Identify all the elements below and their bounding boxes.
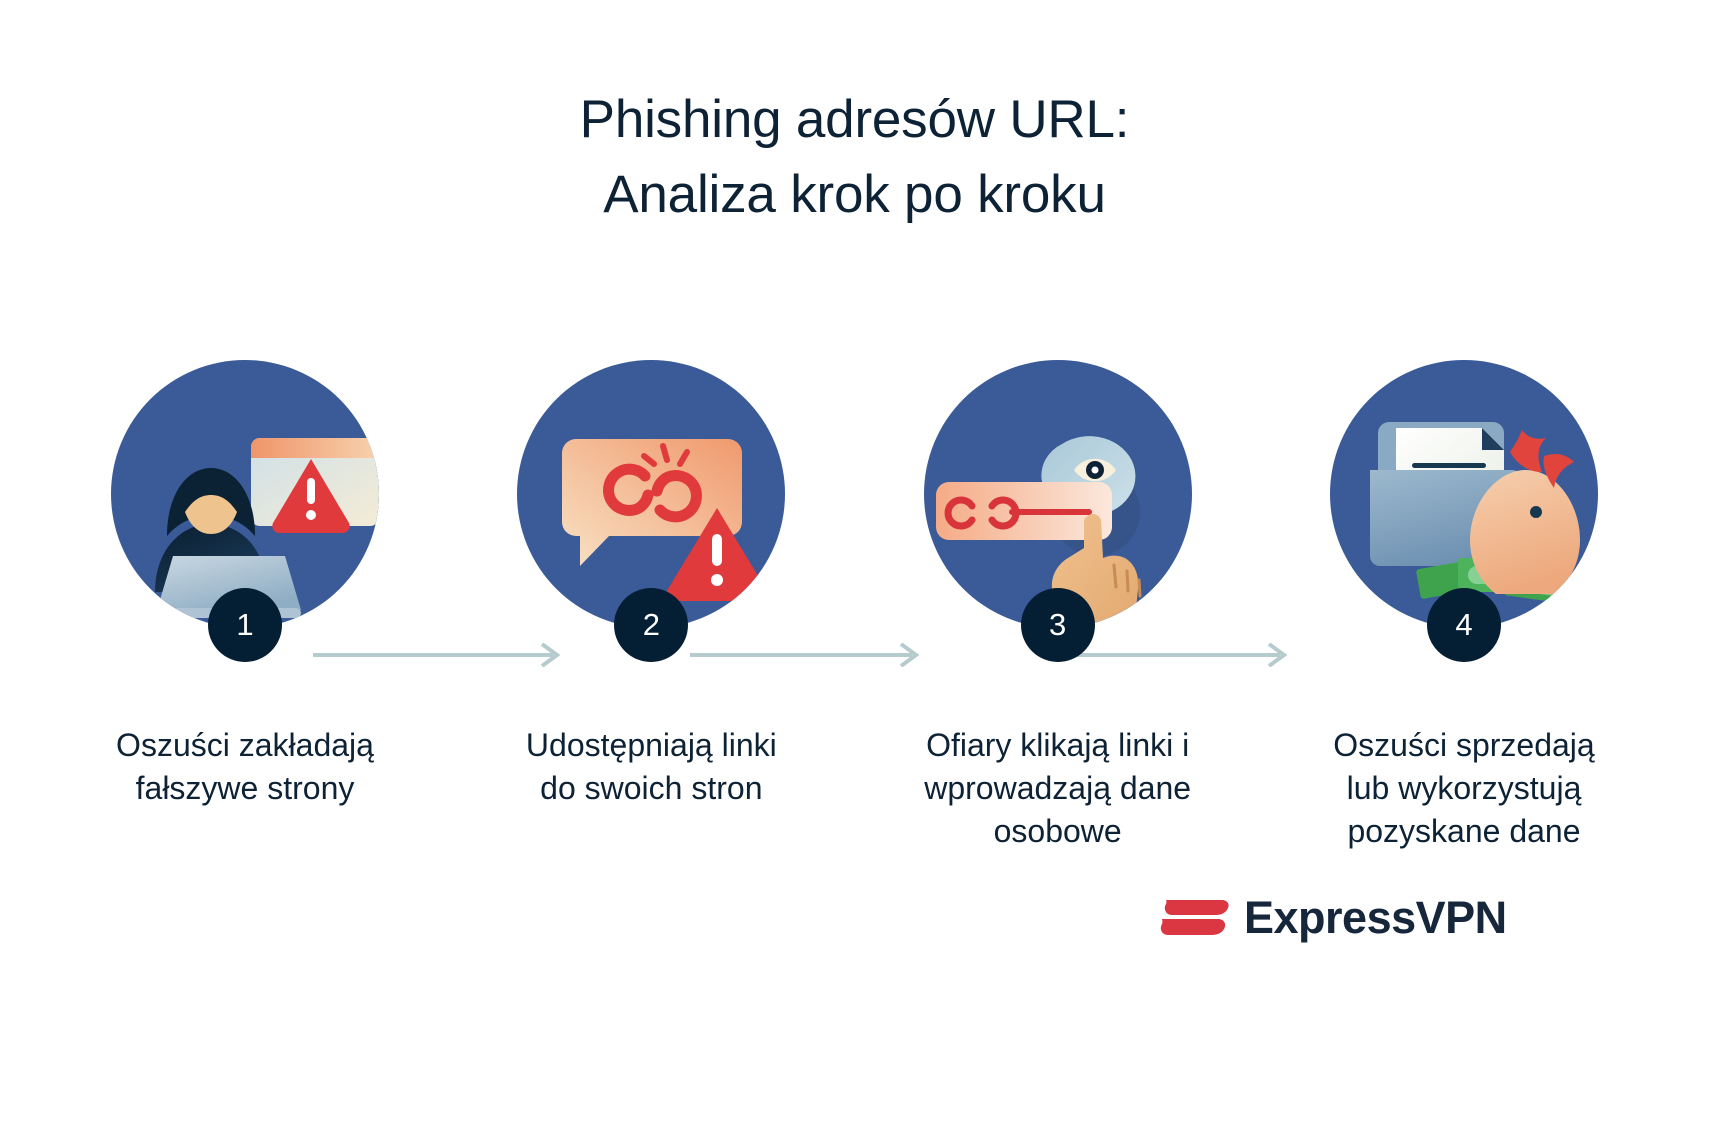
page-title: Phishing adresów URL: Analiza krok po kr…	[0, 82, 1709, 233]
expressvpn-logo-mark-icon	[1158, 888, 1230, 946]
step-2: 2 Udostępniają linki do swoich stron	[486, 360, 816, 810]
step-2-number-badge: 2	[614, 588, 688, 662]
infographic-page: Phishing adresów URL: Analiza krok po kr…	[0, 0, 1709, 1121]
expressvpn-logo: ExpressVPN	[1158, 888, 1507, 946]
step-4-caption-line-2: lub wykorzystują	[1299, 767, 1629, 810]
step-1-caption-line-2: fałszywe strony	[80, 767, 410, 810]
step-3-number-badge: 3	[1021, 588, 1095, 662]
step-1-caption: Oszuści zakładają fałszywe strony	[80, 724, 410, 810]
step-2-caption-line-2: do swoich stron	[486, 767, 816, 810]
step-4-caption: Oszuści sprzedają lub wykorzystują pozys…	[1299, 724, 1629, 853]
step-3: 3 Ofiary klikają linki i wprowadzają dan…	[893, 360, 1223, 853]
step-4-caption-line-3: pozyskane dane	[1299, 810, 1629, 853]
step-2-caption: Udostępniają linki do swoich stron	[486, 724, 816, 810]
step-3-caption: Ofiary klikają linki i wprowadzają dane …	[893, 724, 1223, 853]
step-1-caption-line-1: Oszuści zakładają	[80, 724, 410, 767]
step-4-caption-line-1: Oszuści sprzedają	[1299, 724, 1629, 767]
page-title-line-1: Phishing adresów URL:	[0, 82, 1709, 157]
expressvpn-logo-text: ExpressVPN	[1244, 895, 1507, 940]
page-title-line-2: Analiza krok po kroku	[0, 157, 1709, 232]
step-4: 4 Oszuści sprzedają lub wykorzystują poz…	[1299, 360, 1629, 853]
steps-row: 1 Oszuści zakładają fałszywe strony	[80, 360, 1629, 853]
step-1-number-badge: 1	[208, 588, 282, 662]
step-3-caption-line-2: wprowadzają dane	[893, 767, 1223, 810]
step-4-number-badge: 4	[1427, 588, 1501, 662]
step-2-caption-line-1: Udostępniają linki	[486, 724, 816, 767]
step-1: 1 Oszuści zakładają fałszywe strony	[80, 360, 410, 810]
step-3-caption-line-1: Ofiary klikają linki i	[893, 724, 1223, 767]
step-3-caption-line-3: osobowe	[893, 810, 1223, 853]
